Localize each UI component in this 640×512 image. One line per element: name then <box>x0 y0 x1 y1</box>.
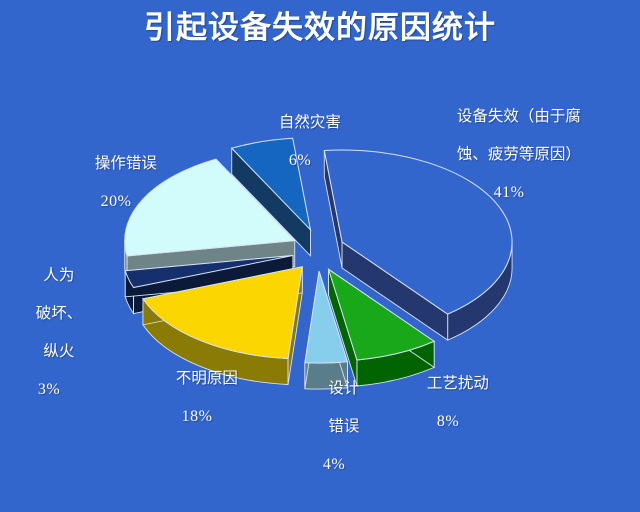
slice-percent-design-error: 4% <box>299 455 369 474</box>
slice-label-equipment-failure: 设备失效（由于腐 蚀、疲劳等原因） 41% <box>404 88 614 240</box>
slice-label-text: 操作错误 <box>95 154 157 172</box>
slice-label-text-line1: 设计 <box>328 379 359 397</box>
slice-label-text-line2: 破坏、 <box>36 304 83 322</box>
slice-label-text-line3: 纵火 <box>43 342 74 360</box>
slice-label-text-line1: 设备失效（由于腐 <box>457 107 581 125</box>
slice-label-natural-disaster: 自然灾害 6% <box>232 94 368 208</box>
slice-percent-unknown-cause: 18% <box>127 407 267 426</box>
slice-label-design-error: 设计 错误 4% <box>299 360 369 512</box>
slice-label-text: 不明原因 <box>176 369 238 387</box>
slice-percent-process-upset: 8% <box>383 412 513 431</box>
slice-percent-sabotage: 3% <box>16 380 82 399</box>
slice-label-operation-error: 操作错误 20% <box>48 135 184 249</box>
slice-label-text-line2: 错误 <box>328 417 359 435</box>
slice-percent-operation-error: 20% <box>48 192 184 211</box>
slide-canvas: 引起设备失效的原因统计 设备失效（由于腐 蚀、疲劳等原因） 41% 自然灾害 6… <box>0 0 640 445</box>
slice-label-text: 工艺扰动 <box>427 374 489 392</box>
slice-percent-natural-disaster: 6% <box>232 151 368 170</box>
slice-label-text-line2: 蚀、疲劳等原因） <box>457 145 581 163</box>
slice-percent-equipment-failure: 41% <box>404 183 614 202</box>
slice-label-process-upset: 工艺扰动 8% <box>383 355 513 469</box>
slice-label-sabotage: 人为 破坏、 纵火 3% <box>16 247 82 437</box>
slice-label-unknown-cause: 不明原因 18% <box>127 350 267 464</box>
slice-label-text-line1: 人为 <box>43 266 74 284</box>
slice-label-text: 自然灾害 <box>279 113 341 131</box>
